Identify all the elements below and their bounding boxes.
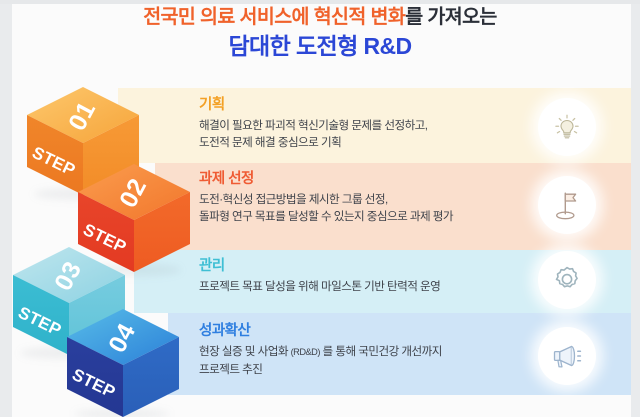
right-gutter [631,0,640,417]
gear-icon [550,263,584,297]
title-line-1-rest: 를 가져오는 [405,6,497,28]
step-desc-4-part-b: (RD&D) [291,347,320,357]
step-icon-badge-2 [538,176,596,234]
infographic-page: 전국민 의료 서비스에 혁신적 변화를 가져오는 담대한 도전형 R&D 기획 … [0,0,640,417]
step-title-3: 관리 [199,257,440,276]
step-desc-3-line-1: 프로젝트 목표 달성을 위해 마일스톤 기반 탄력적 운영 [199,278,440,295]
step-icon-badge-4 [538,327,596,385]
step-desc-1-line-1: 해결이 필요한 파괴적 혁신기술형 문제를 선정하고, [199,117,427,134]
step-text-4: 성과확산 현장 실증 및 사업화 (RD&D) 를 통해 국민건강 개선까지 프… [199,322,442,378]
step-desc-1-line-2: 도전적 문제 해결 중심으로 기획 [199,134,427,151]
megaphone-icon [549,340,585,372]
title-line-1: 전국민 의료 서비스에 혁신적 변화를 가져오는 [0,4,640,30]
step-desc-2-line-2: 돌파형 연구 목표를 달성할 수 있는지 중심으로 과제 평가 [199,208,453,225]
step-title-4: 성과확산 [199,322,442,341]
lightbulb-icon [550,110,584,144]
step-desc-2-line-1: 도전·혁신성 접근방법을 제시한 그룹 선정, [199,191,453,208]
title-line-2: 담대한 도전형 R&D [0,31,640,61]
flag-icon [551,188,583,222]
title-line-1-highlight: 전국민 의료 서비스에 혁신적 변화 [143,6,405,28]
step-cube-4: 04 STEP [62,305,184,417]
step-text-2: 과제 선정 도전·혁신성 접근방법을 제시한 그룹 선정, 돌파형 연구 목표를… [199,170,453,225]
step-text-3: 관리 프로젝트 목표 달성을 위해 마일스톤 기반 탄력적 운영 [199,257,440,295]
step-icon-badge-1 [538,98,596,156]
step-title-1: 기획 [199,96,427,115]
step-desc-4-line-2: 프로젝트 추진 [199,361,442,378]
step-desc-4-part-a: 현장 실증 및 사업화 [199,345,291,358]
step-desc-4-line-1: 현장 실증 및 사업화 (RD&D) 를 통해 국민건강 개선까지 [199,343,442,361]
step-icon-badge-3 [538,251,596,309]
cube-4-shape: 04 STEP [62,305,184,417]
page-title: 전국민 의료 서비스에 혁신적 변화를 가져오는 담대한 도전형 R&D [0,4,640,61]
step-desc-4-part-c: 를 통해 국민건강 개선까지 [320,345,442,358]
step-title-2: 과제 선정 [199,170,453,189]
step-text-1: 기획 해결이 필요한 파괴적 혁신기술형 문제를 선정하고, 도전적 문제 해결… [199,96,427,151]
